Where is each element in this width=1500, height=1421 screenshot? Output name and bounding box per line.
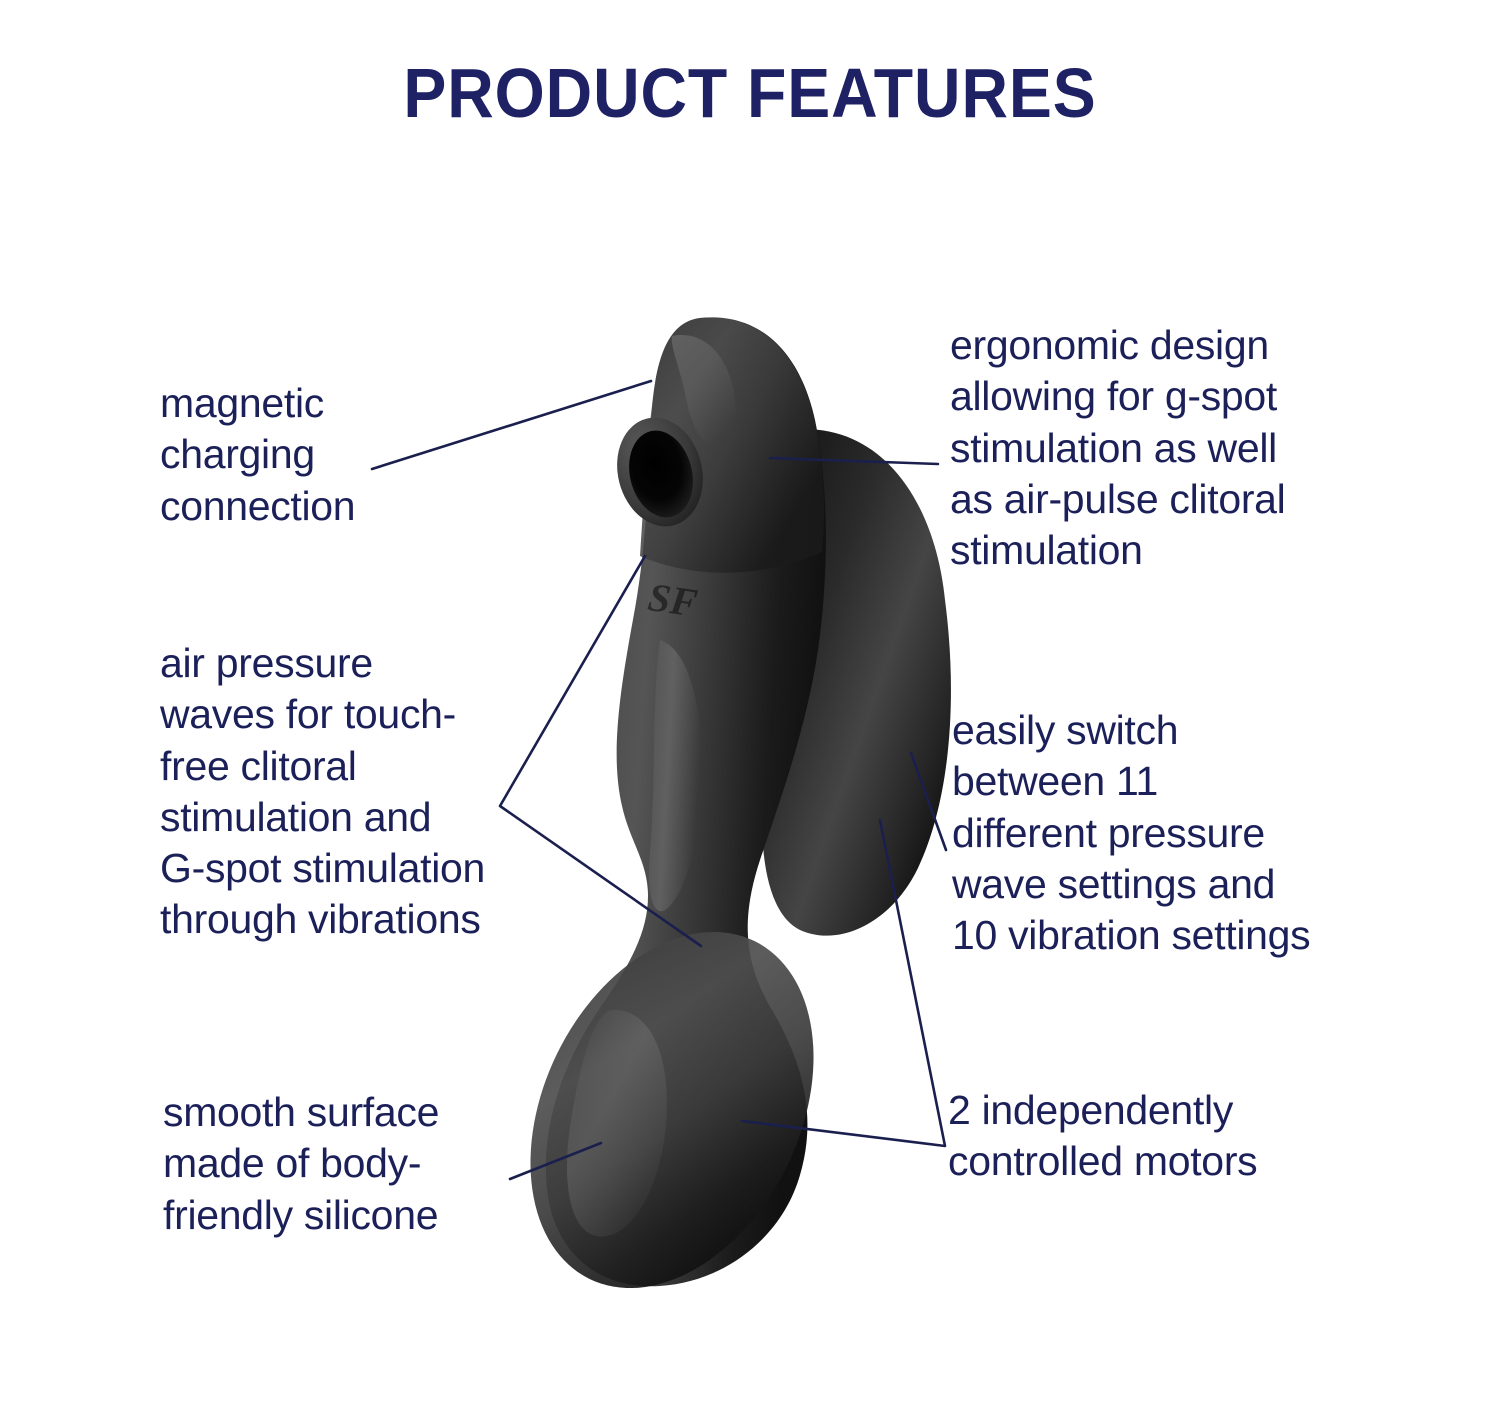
product-tip (475, 885, 870, 1335)
highlight-waist (649, 640, 702, 911)
product-rear-lobe (762, 429, 951, 936)
callout-pressure-settings: easily switch between 11 different press… (952, 705, 1412, 961)
leader-motors (742, 820, 945, 1146)
product-head (640, 317, 824, 572)
page-title: PRODUCT FEATURES (60, 58, 1440, 128)
callout-magnetic-charging: magnetic charging connection (160, 378, 490, 532)
callout-smooth-surface: smooth surface made of body- friendly si… (163, 1087, 533, 1241)
callout-independent-motors: 2 independently controlled motors (948, 1085, 1368, 1188)
leader-pressure-settings (911, 753, 946, 850)
callout-air-pressure-waves: air pressure waves for touch- free clito… (160, 638, 560, 946)
air-pulse-opening (620, 424, 701, 524)
highlight-head (672, 335, 736, 447)
highlight-bulb (567, 1010, 667, 1237)
leader-ergonomic (770, 458, 938, 464)
air-pulse-rim (606, 408, 714, 535)
callout-ergonomic-design: ergonomic design allowing for g-spot sti… (950, 320, 1400, 576)
product-body (546, 317, 826, 1286)
svg-text:SF: SF (645, 574, 700, 625)
sf-logo-mark: SF (645, 574, 700, 625)
